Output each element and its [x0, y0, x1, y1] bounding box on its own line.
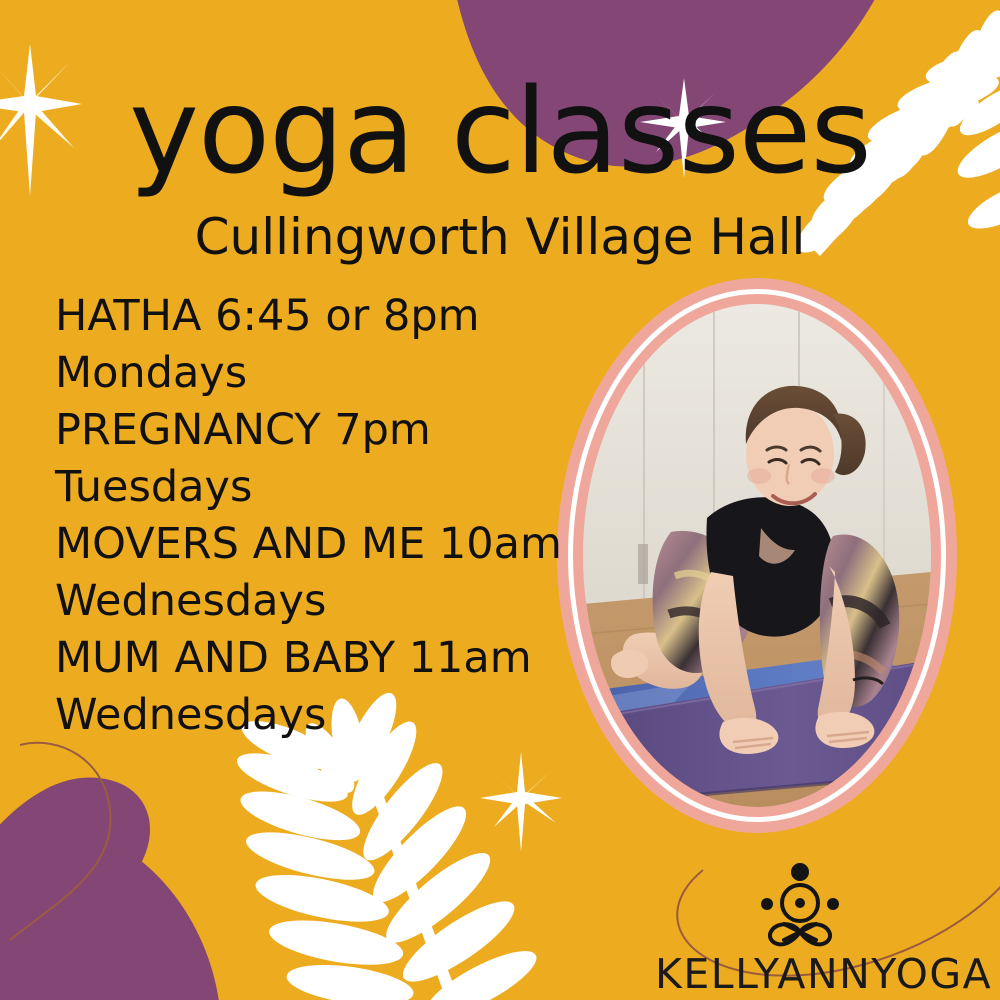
schedule-line-pregnancy-class: PREGNANCY 7pm	[55, 402, 575, 459]
headline-block: yoga classes Cullingworth Village Hall	[0, 72, 1000, 262]
page-subtitle: Cullingworth Village Hall	[0, 212, 1000, 262]
schedule-line-pregnancy-day: Tuesdays	[55, 459, 575, 516]
brand-name: KELLYANNYOGA	[655, 950, 945, 998]
photo-frame	[557, 278, 957, 833]
class-schedule-list: HATHA 6:45 or 8pm Mondays PREGNANCY 7pm …	[55, 288, 575, 744]
meditating-figure-icon	[740, 862, 860, 948]
schedule-line-mumbaby-day: Wednesdays	[55, 687, 575, 744]
brand-logo: KELLYANNYOGA	[655, 862, 945, 992]
yoga-photo	[583, 304, 931, 807]
schedule-line-movers-class: MOVERS AND ME 10am	[55, 516, 575, 573]
thin-curve-bottom-left	[10, 743, 110, 940]
purple-blob-bottom-left-upper	[0, 777, 150, 925]
purple-blob-bottom-left	[0, 816, 220, 1000]
schedule-line-hatha-class: HATHA 6:45 or 8pm	[55, 288, 575, 345]
photo-frame-pink-ring	[573, 294, 941, 817]
poster-canvas: yoga classes Cullingworth Village Hall H…	[0, 0, 1000, 1000]
page-title: yoga classes	[0, 72, 1000, 190]
schedule-line-movers-day: Wednesdays	[55, 573, 575, 630]
photo-clip	[583, 304, 931, 807]
schedule-line-hatha-day: Mondays	[55, 345, 575, 402]
schedule-line-mumbaby-class: MUM AND BABY 11am	[55, 630, 575, 687]
sparkle-bottom-center	[480, 752, 562, 852]
photo-frame-white-ring	[568, 289, 946, 822]
